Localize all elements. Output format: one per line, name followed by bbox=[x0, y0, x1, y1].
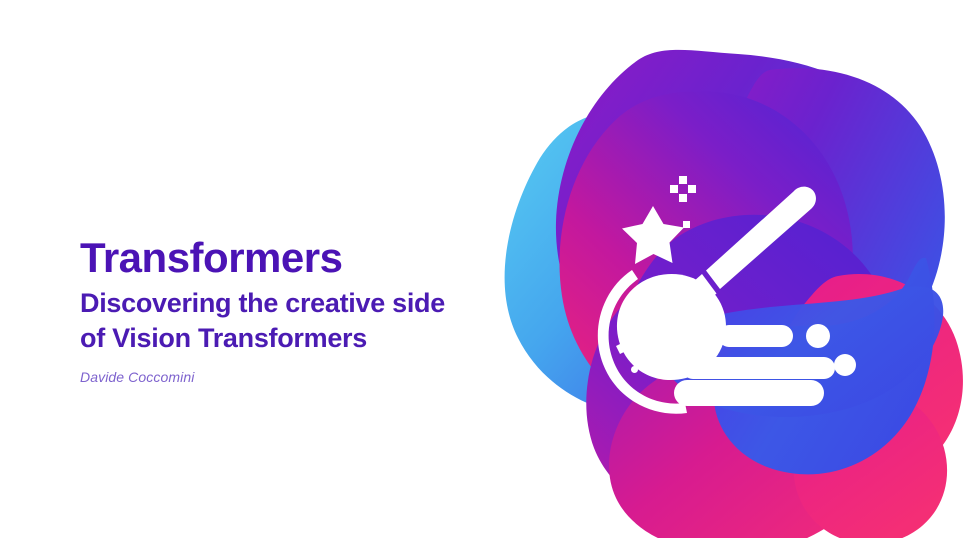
sparkle-dot-icon bbox=[683, 221, 690, 228]
artwork-illustration bbox=[470, 8, 980, 538]
title-text-block: Transformers Discovering the creative si… bbox=[80, 236, 500, 385]
subtitle-line-1: Discovering the creative side bbox=[80, 288, 445, 318]
page-title: Transformers bbox=[80, 236, 500, 280]
slide-canvas: Transformers Discovering the creative si… bbox=[0, 0, 980, 549]
subtitle-line-2: of Vision Transformers bbox=[80, 323, 367, 353]
author-name: Davide Coccomini bbox=[80, 369, 500, 385]
crystal-ball-dot-icon bbox=[631, 366, 638, 373]
slide-subtitle: Discovering the creative side of Vision … bbox=[80, 286, 500, 355]
